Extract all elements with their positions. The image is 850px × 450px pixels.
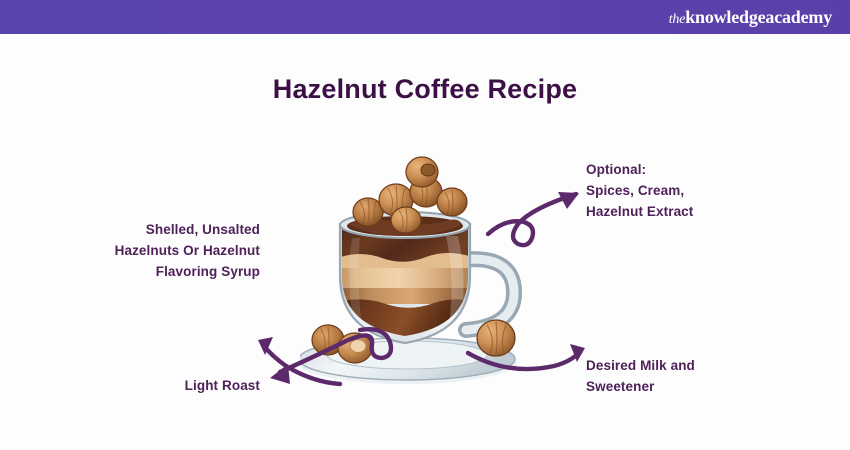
brand-logo: theknowledgeacademy — [669, 5, 832, 32]
infographic-page: theknowledgeacademy Hazelnut Coffee Reci… — [0, 0, 850, 450]
brand-logo-main: knowledgeacademy — [685, 7, 832, 27]
callout-light-roast-line-1: Light Roast — [60, 375, 260, 396]
header-band: theknowledgeacademy — [0, 0, 850, 34]
callout-hazelnuts: Shelled, Unsalted Hazelnuts Or Hazelnut … — [58, 219, 260, 282]
page-title: Hazelnut Coffee Recipe — [0, 74, 850, 105]
callout-milk-sweetener: Desired Milk and Sweetener — [586, 355, 796, 397]
callout-hazelnuts-line-3: Flavoring Syrup — [58, 261, 260, 282]
brand-logo-the: the — [669, 12, 686, 27]
callout-milk-sweetener-line-1: Desired Milk and — [586, 355, 796, 376]
callout-hazelnuts-line-1: Shelled, Unsalted — [58, 219, 260, 240]
callout-hazelnuts-line-2: Hazelnuts Or Hazelnut — [58, 240, 260, 261]
hazelnut-coffee-cup-illustration — [300, 150, 580, 395]
callout-optional-line-3: Hazelnut Extract — [586, 201, 796, 222]
callout-optional: Optional: Spices, Cream, Hazelnut Extrac… — [586, 159, 796, 222]
callout-milk-sweetener-line-2: Sweetener — [586, 376, 796, 397]
callout-optional-line-2: Spices, Cream, — [586, 180, 796, 201]
callout-optional-line-1: Optional: — [586, 159, 796, 180]
callout-light-roast: Light Roast — [60, 375, 260, 396]
